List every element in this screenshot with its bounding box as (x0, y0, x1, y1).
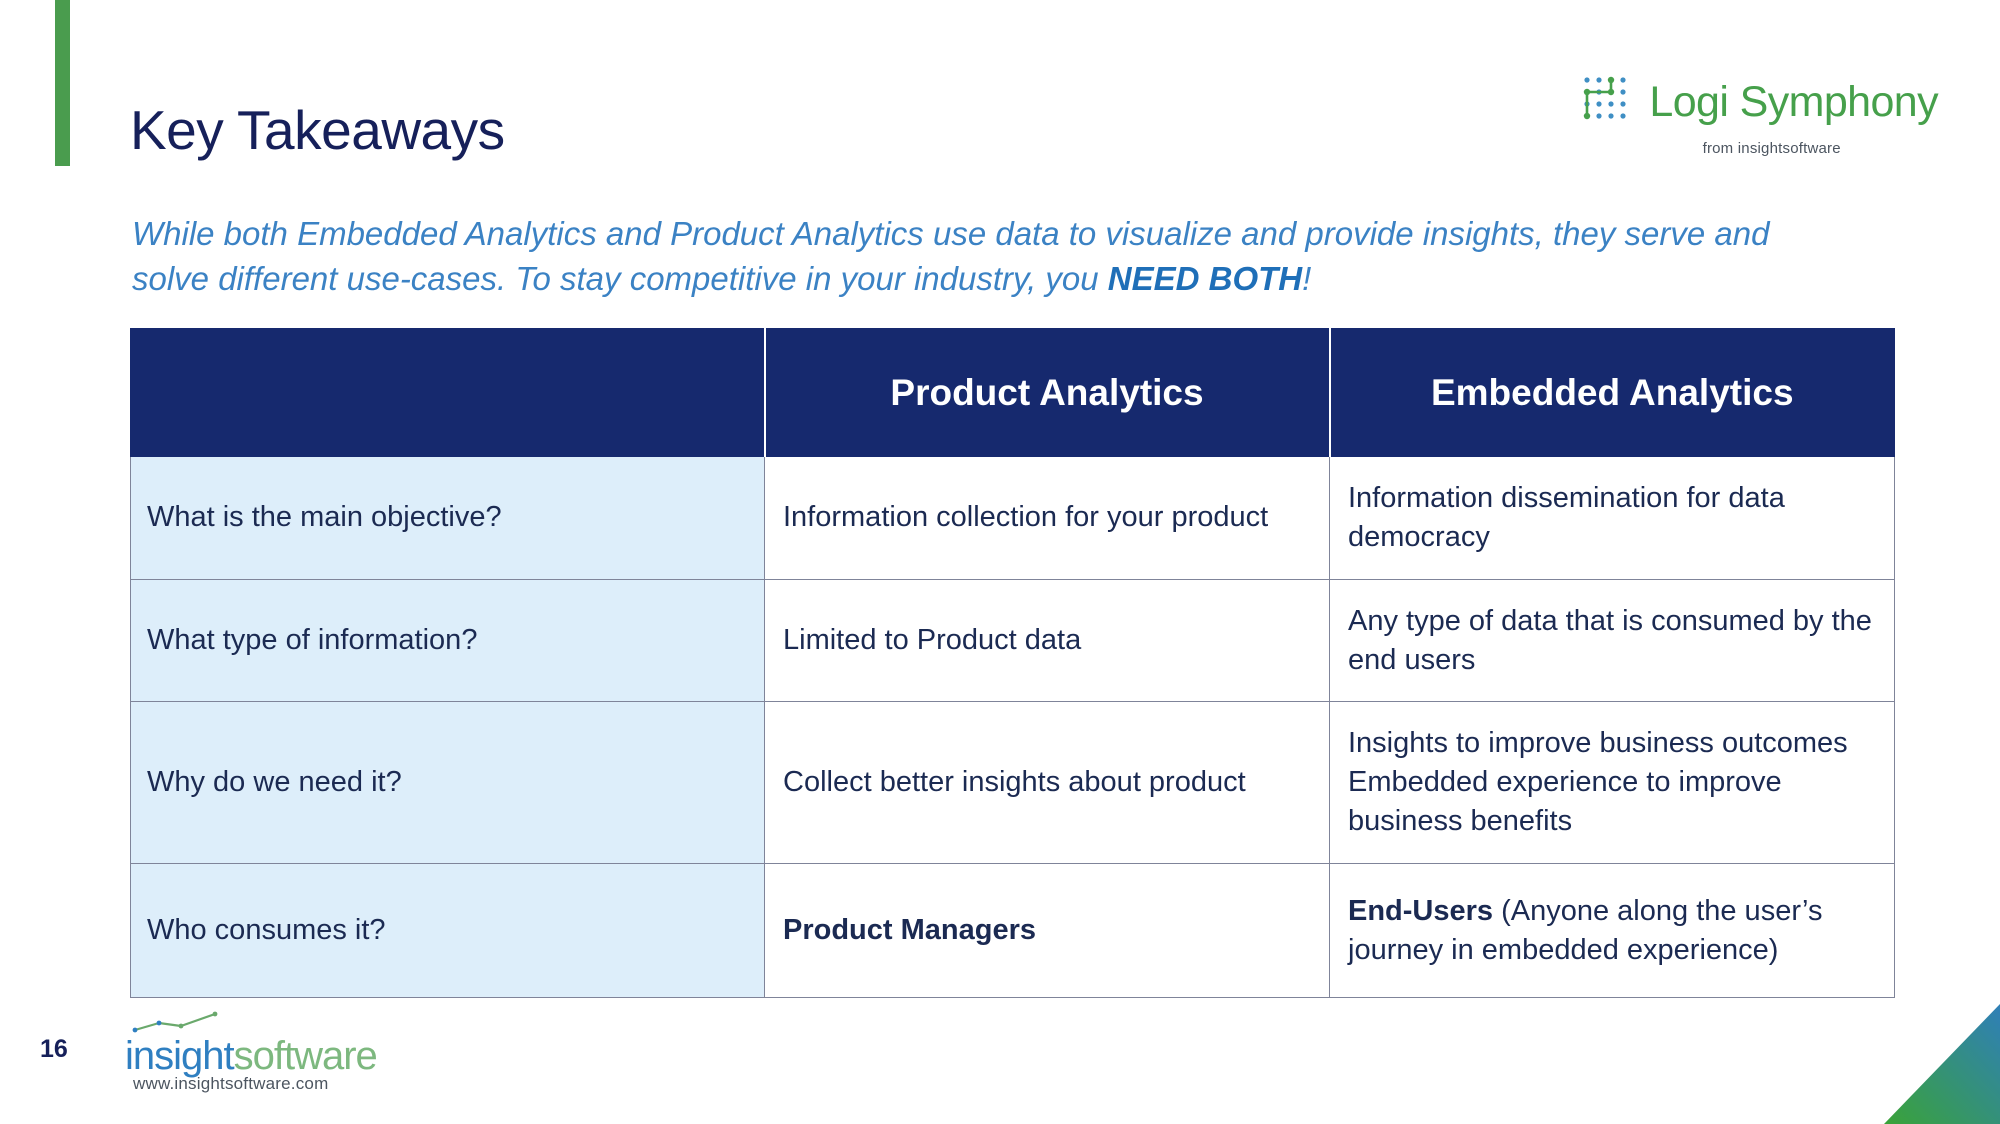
embedded-line-2: Embedded experience to improve business … (1348, 766, 1782, 837)
table-cell-question: What type of information? (131, 579, 765, 702)
table-cell-embedded: Insights to improve business outcomes Em… (1330, 702, 1895, 864)
table-cell-product: Limited to Product data (765, 579, 1330, 702)
table-row: Who consumes it? Product Managers End-Us… (131, 864, 1895, 998)
lead-emphasis: NEED BOTH (1108, 260, 1302, 297)
table-cell-question: Who consumes it? (131, 864, 765, 998)
logo-subtitle: from insightsoftware (1703, 140, 1841, 157)
table-row: What type of information? Limited to Pro… (131, 579, 1895, 702)
table-cell-product: Product Managers (765, 864, 1330, 998)
table-header-embedded-analytics: Embedded Analytics (1330, 329, 1895, 457)
footer-url: www.insightsoftware.com (133, 1074, 328, 1094)
table-row: Why do we need it? Collect better insigh… (131, 702, 1895, 864)
page-number: 16 (40, 1035, 68, 1064)
dot-grid-icon (1579, 72, 1635, 133)
table-header-product-analytics: Product Analytics (765, 329, 1330, 457)
slide-canvas: Key Takeaways (0, 0, 2000, 1124)
table-cell-question: What is the main objective? (131, 457, 765, 580)
table-cell-embedded: End-Users (Anyone along the user’s journ… (1330, 864, 1895, 998)
product-bold-text: Product Managers (783, 914, 1036, 946)
insightsoftware-logo: insightsoftware (125, 1010, 377, 1076)
slide-lead-paragraph: While both Embedded Analytics and Produc… (132, 212, 1842, 302)
table-cell-embedded: Any type of data that is consumed by the… (1330, 579, 1895, 702)
embedded-line-1: Insights to improve business outcomes (1348, 727, 1848, 759)
corner-gradient-triangle (1884, 1004, 2000, 1124)
table-header-row: Product Analytics Embedded Analytics (131, 329, 1895, 457)
title-accent-bar (55, 0, 70, 166)
table-cell-embedded: Information dissemination for data democ… (1330, 457, 1895, 580)
embedded-bold-text: End-Users (1348, 895, 1493, 927)
table-cell-product: Information collection for your product (765, 457, 1330, 580)
page-title: Key Takeaways (130, 103, 505, 158)
table-row: What is the main objective? Information … (131, 457, 1895, 580)
logi-symphony-logo: Logi Symphony from insightsoftware (1579, 72, 1938, 157)
table-cell-product: Collect better insights about product (765, 702, 1330, 864)
table-cell-question: Why do we need it? (131, 702, 765, 864)
footer-logo-insight: insight (125, 1034, 234, 1078)
logo-wordmark: Logi Symphony (1649, 81, 1938, 124)
table-header-blank (131, 329, 765, 457)
lead-text-part2: ! (1302, 260, 1311, 297)
footer-logo-software: software (234, 1034, 377, 1078)
comparison-table: Product Analytics Embedded Analytics Wha… (130, 328, 1895, 998)
lead-text-part1: While both Embedded Analytics and Produc… (132, 215, 1769, 297)
